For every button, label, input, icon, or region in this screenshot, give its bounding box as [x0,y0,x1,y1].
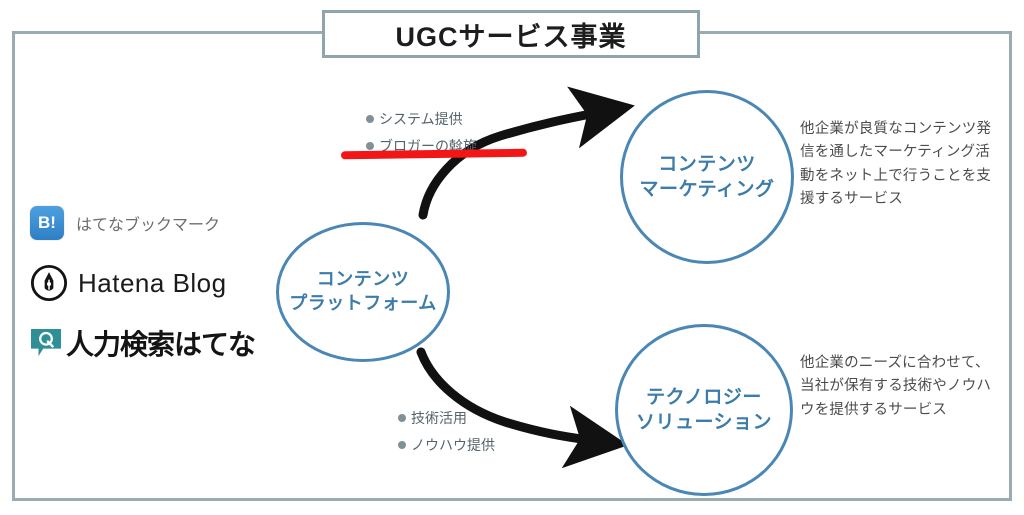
page-title: UGCサービス事業 [396,15,627,54]
list-item-hatena-bookmark: B! はてなブックマーク [30,196,260,250]
node-technology-solution-line1: テクノロジー [646,385,762,410]
hatena-bookmark-icon: B! [30,206,64,240]
node-technology-solution-line2: ソリューション [636,410,772,435]
node-content-platform: コンテンツ プラットフォーム [276,222,450,362]
bullet-dot-icon [398,414,406,422]
diagram-title-box: UGCサービス事業 [322,10,700,58]
node-content-platform-line1: コンテンツ [317,268,410,292]
node-content-marketing-line1: コンテンツ [658,152,756,177]
arrow-labels-bottom: 技術活用 ノウハウ提供 [398,405,495,458]
jinriki-kensaku-label: 人力検索はてな [66,323,255,363]
diagram-canvas: UGCサービス事業 B! はてなブックマーク Hatena Blog [0,0,1024,515]
node-content-marketing-line2: マーケティング [640,177,775,202]
hatena-bookmark-icon-text: B! [38,213,56,233]
bullet-dot-icon [366,142,374,150]
arrow-label-top-0: システム提供 [379,106,463,133]
hatena-blog-label: Hatena Blog [78,268,227,299]
list-item-jinriki-kensaku: 人力検索はてな [30,316,260,370]
bullet-item: システム提供 [366,106,477,133]
arrow-label-bottom-1: ノウハウ提供 [411,432,495,459]
bullet-dot-icon [398,441,406,449]
service-logo-list: B! はてなブックマーク Hatena Blog [30,196,260,370]
hatena-bookmark-label: はてなブックマーク [76,211,220,235]
description-technology-solution: 他企業のニーズに合わせて、当社が保有する技術やノウハウを提供するサービス [800,352,1000,422]
node-content-platform-line2: プラットフォーム [289,292,436,316]
bullet-dot-icon [366,115,374,123]
description-content-marketing: 他企業が良質なコンテンツ発信を通したマーケティング活動をネット上で行うことを支援… [800,118,1000,212]
node-content-marketing: コンテンツ マーケティング [620,90,794,264]
list-item-hatena-blog: Hatena Blog [30,256,260,310]
node-technology-solution: テクノロジー ソリューション [615,324,793,496]
bullet-item: ノウハウ提供 [398,432,495,459]
arrow-label-bottom-0: 技術活用 [411,405,467,432]
hatena-blog-pen-icon [30,264,68,302]
bullet-item: 技術活用 [398,405,495,432]
jinriki-kensaku-q-icon [30,328,62,358]
